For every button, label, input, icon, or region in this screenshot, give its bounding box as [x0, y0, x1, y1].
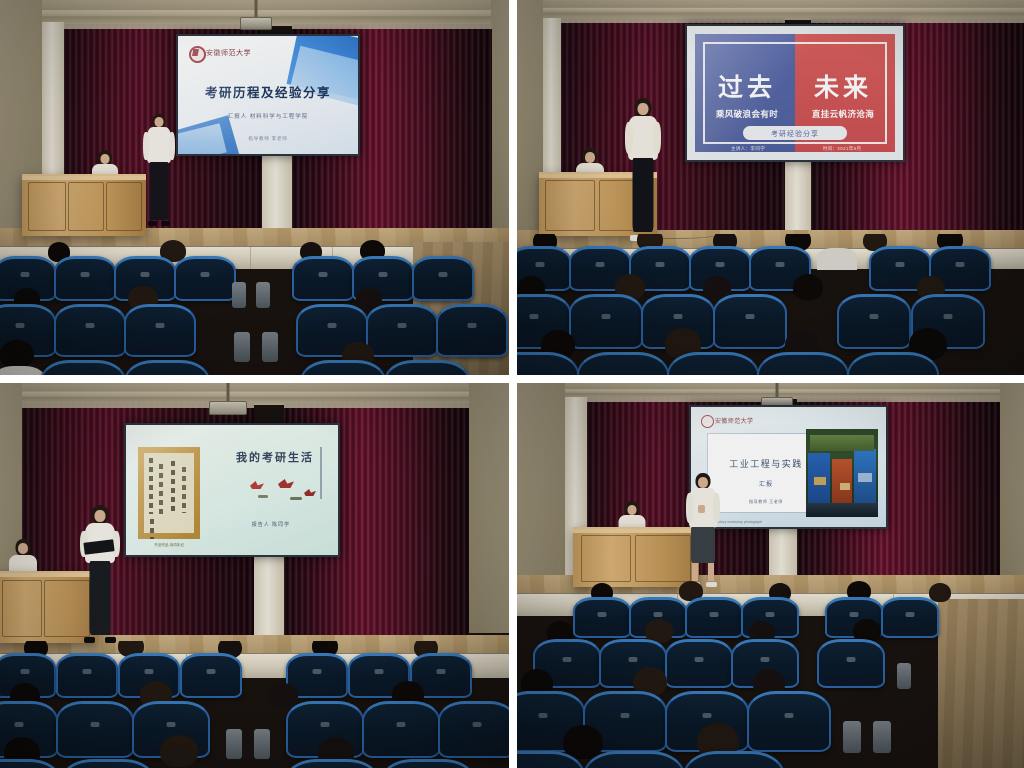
gutter-horizontal-left — [0, 375, 509, 383]
presenter — [685, 473, 721, 585]
slide-left-subtext: 乘风破浪会有时 — [701, 108, 793, 120]
wall-left — [517, 383, 565, 579]
podium — [573, 527, 699, 587]
presenter — [80, 505, 120, 641]
collage-panel-bottom-right: 安徽师范大学 工业工程与实践 汇报 指导教师 王老师 colorful fact… — [517, 383, 1024, 768]
ceiling — [0, 383, 509, 405]
collage-panel-bottom-left: 书法作品 诗词手记 我的考研生活 报告人 陈同学 — [0, 383, 509, 768]
slide-photo — [806, 429, 878, 517]
slide-subtitle: 汇报 — [707, 479, 825, 488]
projection-screen: 安徽师范大学 考研历程及经验分享 汇报人 材料科学与工程学院 指导教师 李老师 — [176, 34, 360, 156]
wall-right — [1000, 383, 1024, 579]
slide-subtitle: 汇报人 材料科学与工程学院 — [178, 112, 358, 120]
slide-left-heading: 过去 — [703, 68, 791, 104]
ceiling-projector — [206, 383, 250, 417]
seat-row — [0, 691, 509, 745]
seat-row — [0, 354, 509, 375]
photo-collage: 安徽师范大学 考研历程及经验分享 汇报人 材料科学与工程学院 指导教师 李老师 — [0, 0, 1024, 768]
projection-screen: 书法作品 诗词手记 我的考研生活 报告人 陈同学 — [124, 423, 340, 557]
seat-row — [0, 296, 509, 350]
collage-panel-top-left: 安徽师范大学 考研历程及经验分享 汇报人 材料科学与工程学院 指导教师 李老师 — [0, 0, 509, 375]
slide-bottom-left: 主讲人：李同学 — [705, 146, 791, 152]
pillar-center — [785, 150, 811, 232]
ceiling — [517, 0, 1024, 20]
slide-bottom-right: 时间：2021年6月 — [799, 146, 885, 152]
projection-screen: 过去 未来 乘风破浪会有时 直挂云帆济沧海 考研经验分享 主讲人：李同学 时间：… — [685, 24, 905, 162]
seat-row — [517, 284, 1024, 340]
audience-seating — [0, 641, 509, 768]
slide-right-subtext: 直挂云帆济沧海 — [797, 108, 889, 120]
slide-right-heading: 未来 — [799, 68, 887, 104]
slide-footer: 指导教师 李老师 — [178, 136, 358, 142]
slide-logo-text: 安徽师范大学 — [206, 48, 251, 58]
wall-right — [491, 0, 509, 228]
presenter — [142, 114, 176, 224]
audience-seating — [517, 234, 1024, 375]
seat-row — [517, 342, 1024, 375]
slide-calligraphy-panel — [138, 447, 200, 539]
collage-panel-top-right: 过去 未来 乘风破浪会有时 直挂云帆济沧海 考研经验分享 主讲人：李同学 时间：… — [517, 0, 1024, 375]
slide-logo-icon — [701, 415, 714, 428]
audience-seating — [517, 579, 1024, 768]
podium — [22, 174, 146, 236]
pillar-center — [262, 150, 292, 228]
slide-title: 我的考研生活 — [222, 449, 328, 465]
slide-left-panel-label: 书法作品 诗词手记 — [138, 543, 200, 548]
seat-row — [0, 641, 509, 687]
seat-row — [517, 234, 1024, 282]
ceiling-projector — [236, 0, 276, 32]
seat-row — [0, 749, 509, 768]
gutter-vertical-bottom — [509, 383, 517, 768]
gutter-center-cross — [509, 375, 517, 383]
audience-seating — [0, 232, 509, 375]
gutter-vertical-top — [509, 0, 517, 375]
seat-row — [0, 248, 509, 294]
gutter-horizontal-right — [517, 375, 1024, 383]
seat-row — [517, 585, 1024, 627]
slide-footer: 指导教师 王老师 — [707, 499, 825, 505]
wall-right — [469, 383, 509, 633]
slide-band-text: 考研经验分享 — [743, 129, 847, 139]
slide-presenter-line: 报告人 陈同学 — [222, 521, 320, 528]
slide-logo-text: 安徽师范大学 — [715, 416, 753, 425]
presenter — [625, 98, 661, 238]
slide-title: 考研历程及经验分享 — [178, 82, 358, 101]
seat-row — [517, 739, 1024, 768]
slide-title: 工业工程与实践 — [707, 457, 825, 470]
